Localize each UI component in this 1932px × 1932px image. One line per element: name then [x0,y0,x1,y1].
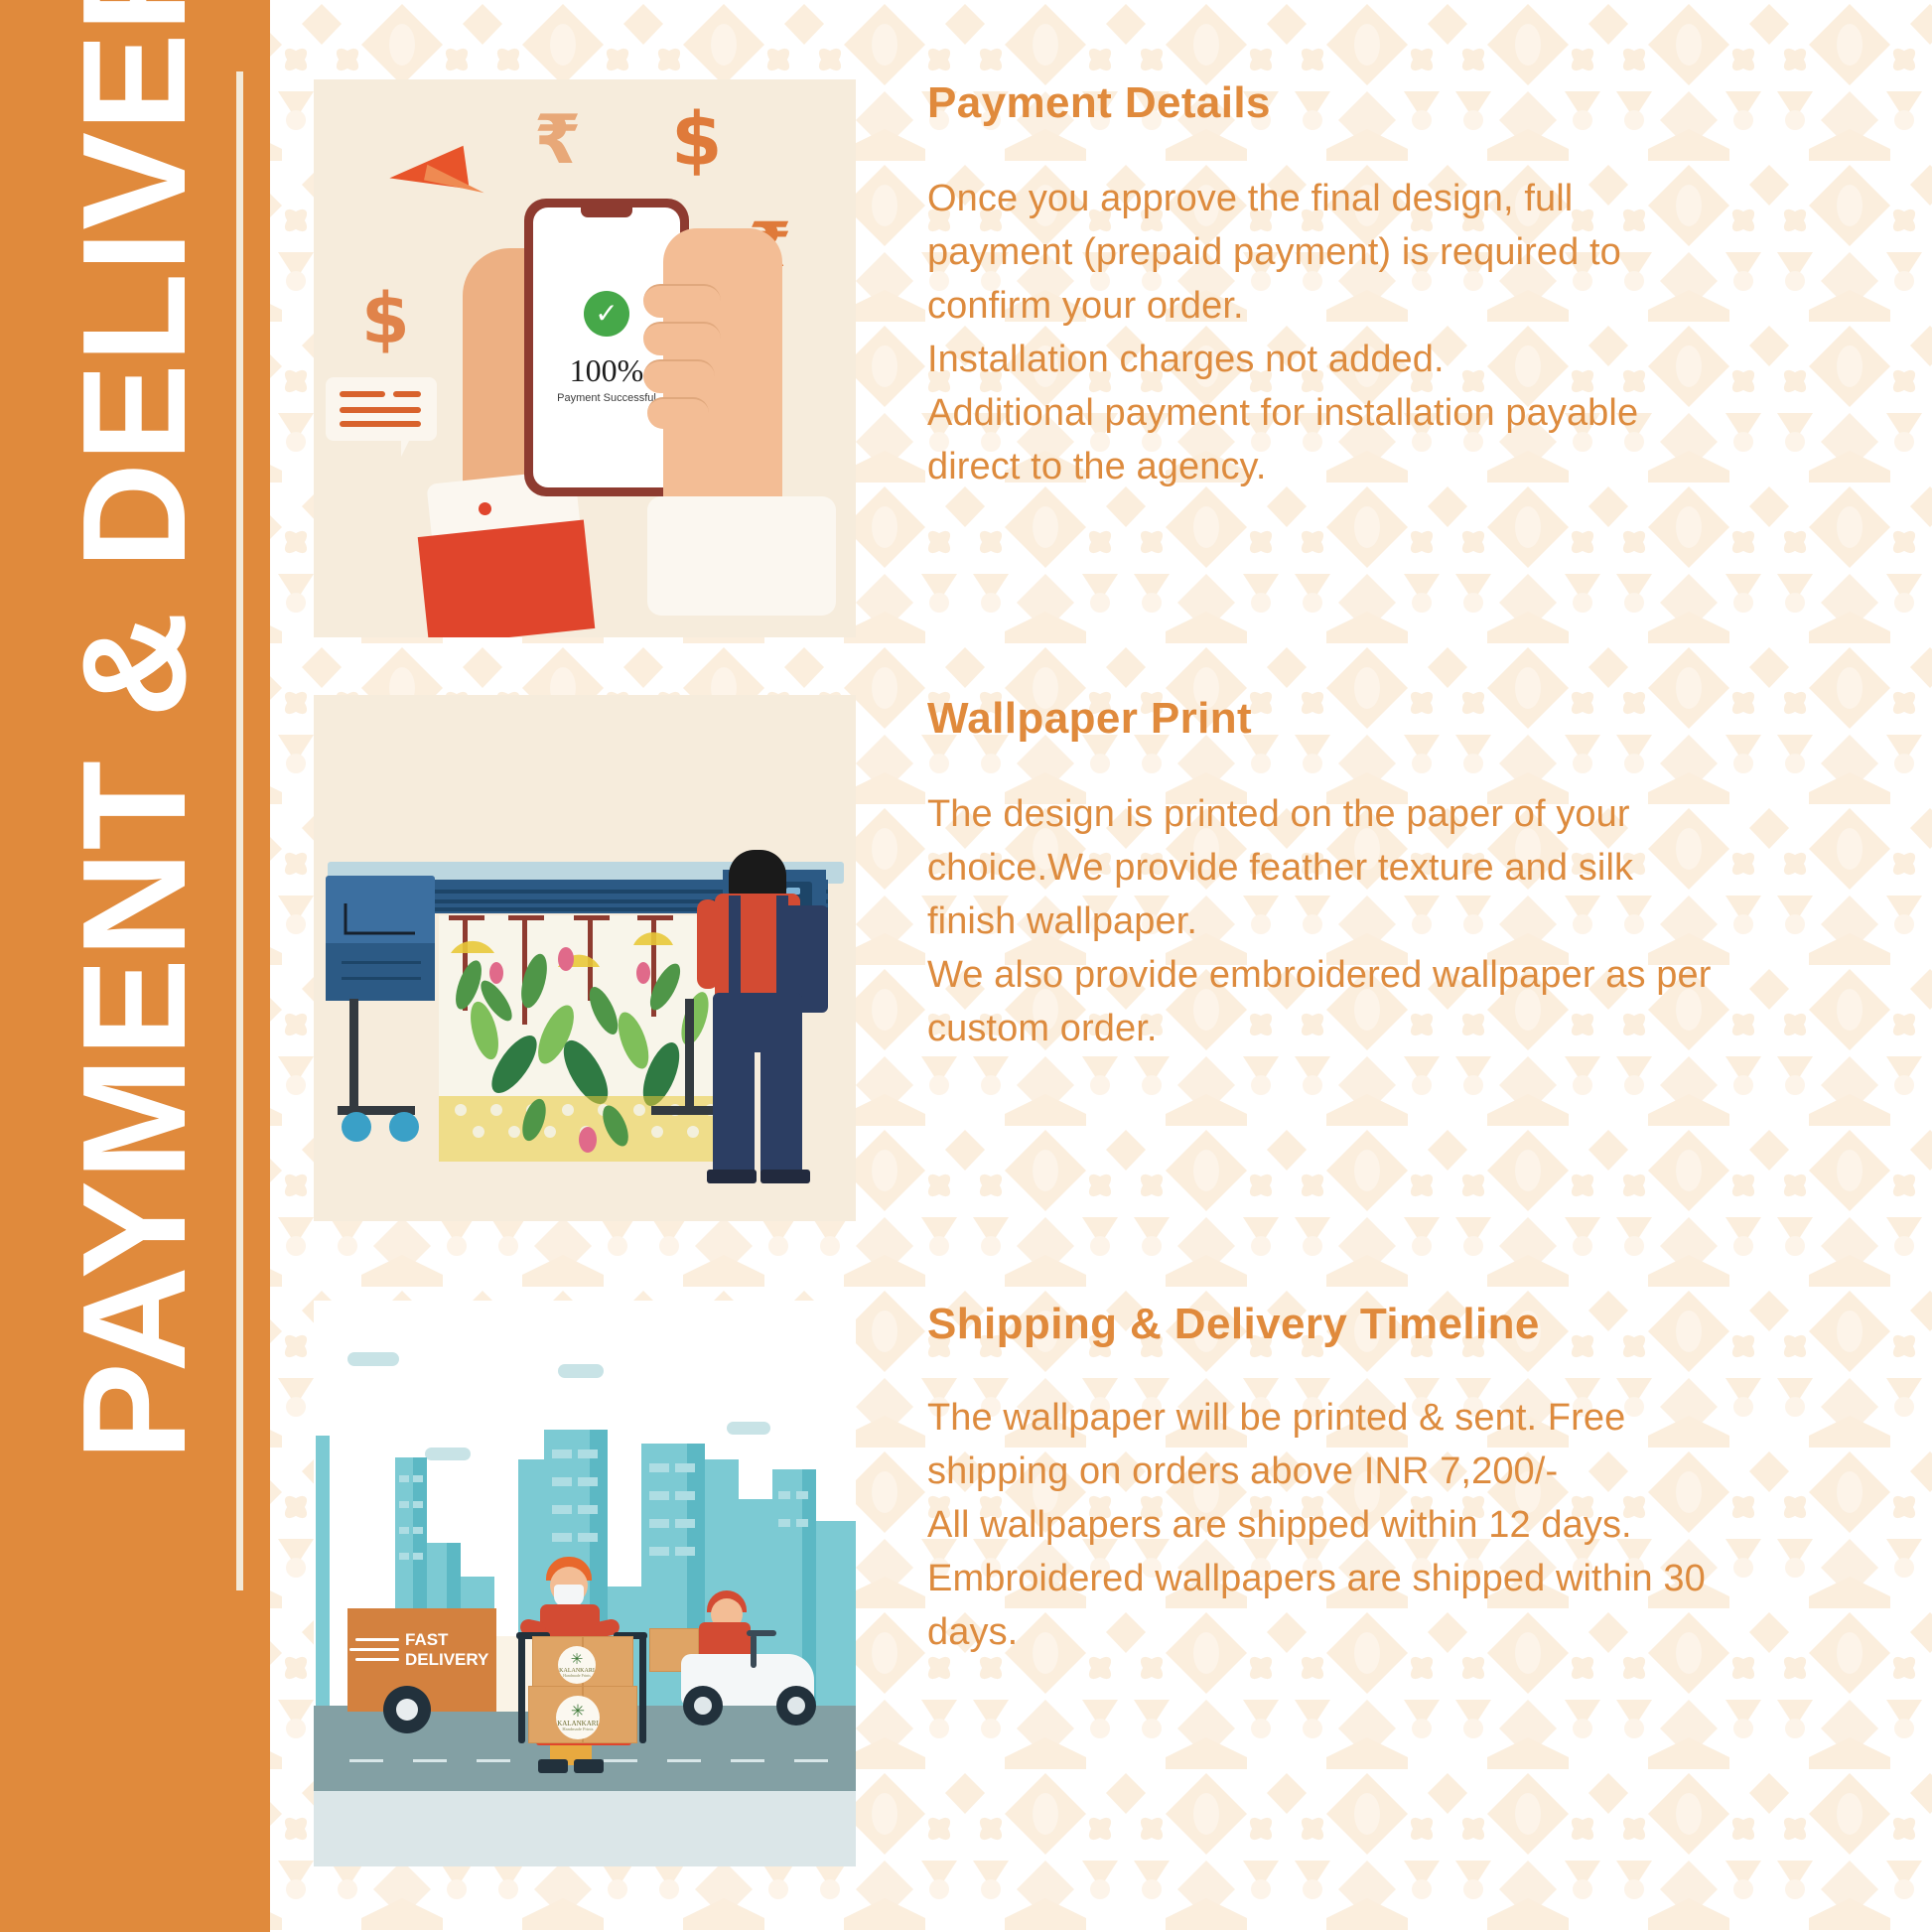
hand-truck-rail [639,1634,646,1743]
road-dash [477,1759,510,1762]
window [578,1505,598,1514]
section-body-wallpaper-print: The design is printed on the paper of yo… [927,788,1712,1056]
window [578,1477,598,1486]
window [649,1519,669,1528]
operator-shoe [760,1170,810,1183]
page-title: PAYMENT & DELIVERY [62,190,208,1719]
chat-line [340,407,421,413]
truck-wheel-hub [396,1699,418,1721]
printer-left-slot [342,977,421,980]
chat-line [340,421,421,427]
large-format-printer-illustration [314,695,856,1221]
scooter-wheel-hub [694,1697,712,1715]
truck-label-line-1: FAST [405,1630,448,1649]
road-dash [413,1759,447,1762]
operator-shoe [707,1170,757,1183]
dollar-symbol-icon: $ [361,278,410,359]
overall-strap [729,896,741,1003]
city-delivery-illustration: FAST DELIVERY [314,1301,856,1866]
success-check-icon: ✓ [584,291,629,337]
section-wallpaper-print: Wallpaper Print The design is printed on… [270,695,1932,1251]
cloud-icon [347,1352,399,1366]
finger [643,322,721,355]
window [675,1463,695,1472]
section-title-wallpaper-print: Wallpaper Print [927,695,1872,743]
window [675,1519,695,1528]
window [778,1491,790,1499]
operator-leg-split [755,1052,760,1177]
printer-left-slot [342,961,421,964]
cuff-button-icon [479,502,491,515]
package-brand-logo: ✳ KALANKARI Handmade Prints [556,1696,600,1739]
payment-status-label: Payment Successful [557,392,656,404]
window [578,1449,598,1458]
section-title-shipping-delivery: Shipping & Delivery Timeline [927,1301,1872,1348]
truck-label: FAST DELIVERY [405,1630,488,1669]
building [816,1521,856,1714]
section-body-shipping-delivery: The wallpaper will be printed & sent. Fr… [927,1392,1712,1660]
printer-caster-wheel [342,1112,371,1142]
window [649,1463,669,1472]
road-dash [731,1759,764,1762]
rupee-symbol-icon: ₹ [534,101,581,180]
printer-operator-head [729,850,786,897]
dollar-symbol-icon: $ [671,97,723,183]
courier-face-mask-icon [554,1585,584,1606]
printer-left-base [326,943,435,1001]
printer-leg [349,999,358,1110]
scooter-handlebar-grip [747,1630,776,1636]
wallpaper-print-text-column: Wallpaper Print The design is printed on… [927,695,1932,1056]
window [578,1533,598,1542]
window [649,1491,669,1500]
package-brand-logo: ✳ KALANKARI Handmade Prints [558,1646,596,1684]
scooter-wheel-hub [787,1697,805,1715]
speed-line [355,1658,399,1661]
section-payment-details: ₹ $ ₹ $ ✓ 100% Payment Su [270,79,1932,635]
window [552,1477,572,1486]
speed-line [355,1638,399,1641]
window [675,1491,695,1500]
brand-tagline: Handmade Prints [557,1727,599,1732]
printed-wallpaper-output [439,915,725,1162]
sidewalk [314,1791,856,1866]
window [552,1449,572,1458]
vertical-title-container: PAYMENT & DELIVERY [0,0,270,1932]
window [413,1553,423,1560]
pointing-finger [647,397,709,429]
window [796,1491,808,1499]
printer-caster-wheel [389,1112,419,1142]
window [399,1527,409,1534]
section-body-payment-details: Once you approve the final design, full … [927,173,1712,494]
scooter-handlebar [751,1634,757,1668]
brand-star-icon: ✳ [559,1652,595,1667]
truck-label-line-2: DELIVERY [405,1650,488,1669]
window [399,1553,409,1560]
section-title-payment-details: Payment Details [927,79,1872,127]
mobile-payment-success-illustration: ₹ $ ₹ $ ✓ 100% Payment Su [314,79,856,637]
payment-percent: 100% [570,354,644,386]
phone-notch [581,207,632,217]
printer-hose-icon [344,901,421,941]
courier-shoe [574,1759,604,1773]
road-dash [604,1759,637,1762]
cloud-icon [727,1422,770,1435]
operator-arm [697,899,719,989]
window [552,1533,572,1542]
window [552,1505,572,1514]
window [399,1501,409,1508]
window [796,1519,808,1527]
section-shipping-delivery: FAST DELIVERY [270,1301,1932,1876]
tropical-print-artwork [439,915,725,1162]
content-area: ₹ $ ₹ $ ✓ 100% Payment Su [270,0,1932,1932]
finger [643,284,721,318]
window [413,1527,423,1534]
hand-truck-rail [518,1634,525,1743]
road-dash [667,1759,701,1762]
window [413,1475,423,1482]
window [675,1547,695,1556]
cloud-icon [425,1448,471,1460]
road-dash [349,1759,383,1762]
speed-line [349,1648,399,1651]
window [649,1547,669,1556]
building [316,1436,330,1714]
chat-bubble-tail-icon [401,437,411,457]
courier-shoe [538,1759,568,1773]
cloud-icon [558,1364,604,1378]
chat-line [393,391,421,397]
left-sleeve [418,520,596,637]
right-shirt-cuff [647,496,836,616]
brand-tagline: Handmade Prints [559,1674,595,1678]
payment-details-text-column: Payment Details Once you approve the fin… [927,79,1932,494]
brand-star-icon: ✳ [557,1703,599,1720]
window [413,1501,423,1508]
shipping-delivery-text-column: Shipping & Delivery Timeline The wallpap… [927,1301,1932,1660]
printer-leg [685,999,694,1110]
finger [643,359,715,393]
chat-line [340,391,385,397]
window [399,1475,409,1482]
road-dash [794,1759,828,1762]
window [778,1519,790,1527]
